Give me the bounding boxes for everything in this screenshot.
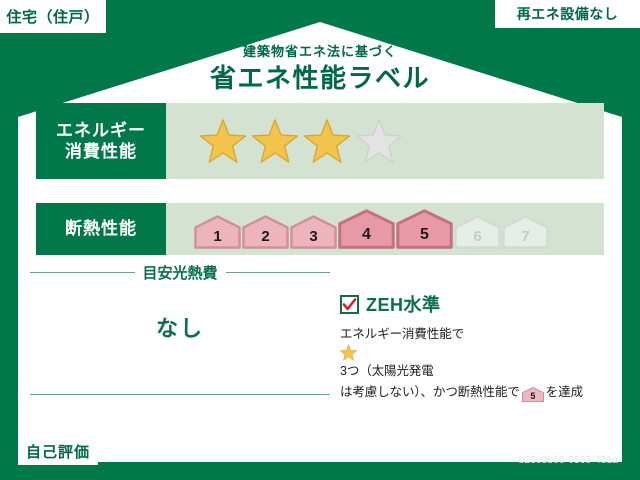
insulation-level-1: 1 (194, 215, 241, 249)
insulation-level-label: 5 (420, 226, 429, 244)
zeh-description: エネルギー消費性能で3つ（太陽光発電 は考慮しない）、かつ断熱性能で 5 を達成 (340, 324, 612, 402)
insulation-level-7: 7 (502, 215, 549, 249)
insulation-level-label: 2 (261, 228, 269, 245)
evaluation-id: b28e9b00-0569-481a (476, 455, 618, 466)
utility-cost-section: 目安光熱費 なし (30, 262, 330, 343)
energy-star-rating (166, 103, 604, 179)
footer-right: 評価日 2025年9月10日 b28e9b00-0569-481a (476, 433, 618, 466)
energy-performance-row: エネルギー 消費性能 (36, 103, 604, 179)
star-icon-filled (200, 118, 246, 164)
insulation-level-label: 7 (521, 228, 529, 245)
zeh-desc-part1: エネルギー消費性能で (340, 327, 464, 341)
insulation-performance-row: 断熱性能 1234567 (36, 203, 604, 255)
insulation-level-label: 6 (473, 228, 481, 245)
insulation-level-6: 6 (454, 215, 501, 249)
star-icon-filled (304, 118, 350, 164)
insulation-level-5: 5 (396, 209, 453, 249)
star-icon-empty (356, 118, 402, 164)
zeh-section: ZEH水準 エネルギー消費性能で3つ（太陽光発電 は考慮しない）、かつ断熱性能で… (340, 291, 612, 402)
star-icon-filled (252, 118, 298, 164)
energy-performance-label-head: エネルギー 消費性能 (36, 103, 166, 179)
insulation-level-scale: 1234567 (194, 209, 550, 249)
check-icon (342, 297, 357, 312)
badge-renewable-energy: 再エネ設備なし (495, 0, 640, 28)
star-icon-inline (340, 344, 357, 361)
utility-cost-value: なし (30, 311, 330, 343)
utility-cost-bottom-rule (30, 394, 330, 395)
self-evaluation-badge: 自己評価 (18, 438, 98, 465)
insulation-level-2: 2 (242, 215, 289, 249)
utility-cost-title: 目安光熱費 (143, 262, 218, 283)
insulation-level-label: 1 (213, 228, 221, 245)
zeh-title: ZEH水準 (366, 291, 441, 317)
badge-building-type: 住宅（住戸） (0, 0, 106, 33)
divider-left (30, 272, 135, 273)
insulation-level-4: 4 (338, 209, 395, 249)
insulation-level-3: 3 (290, 215, 337, 249)
label-title: 省エネ性能ラベル (0, 58, 640, 95)
insulation-chip-inline-label: 5 (522, 387, 544, 405)
zeh-checkbox[interactable] (340, 295, 359, 314)
divider-right (226, 272, 331, 273)
evaluation-date: 評価日 2025年9月10日 (476, 433, 618, 453)
zeh-header: ZEH水準 (340, 291, 612, 317)
energy-performance-label: 住宅（住戸） 再エネ設備なし 建築物省エネ法に基づく 省エネ性能ラベル エネルギ… (0, 0, 640, 480)
insulation-performance-label-head: 断熱性能 (36, 203, 166, 255)
insulation-level-label: 3 (309, 228, 317, 245)
footer-left: 自己評価 南足柄市中沼第12(3期3棟)9号棟(22368200900) (18, 438, 350, 465)
zeh-desc-part3: は考慮しない）、かつ断熱性能で (340, 385, 520, 399)
property-address: 南足柄市中沼第12(3期3棟)9号棟(22368200900) (106, 444, 350, 460)
zeh-desc-part2: 3つ（太陽光発電 (340, 364, 434, 378)
insulation-level-label: 4 (362, 226, 371, 244)
zeh-desc-part4: を達成 (546, 385, 583, 399)
energy-head-line2: 消費性能 (56, 141, 146, 162)
insulation-chip-inline: 5 (522, 387, 544, 402)
utility-cost-title-row: 目安光熱費 (30, 262, 330, 283)
energy-head-line1: エネルギー (56, 120, 146, 141)
